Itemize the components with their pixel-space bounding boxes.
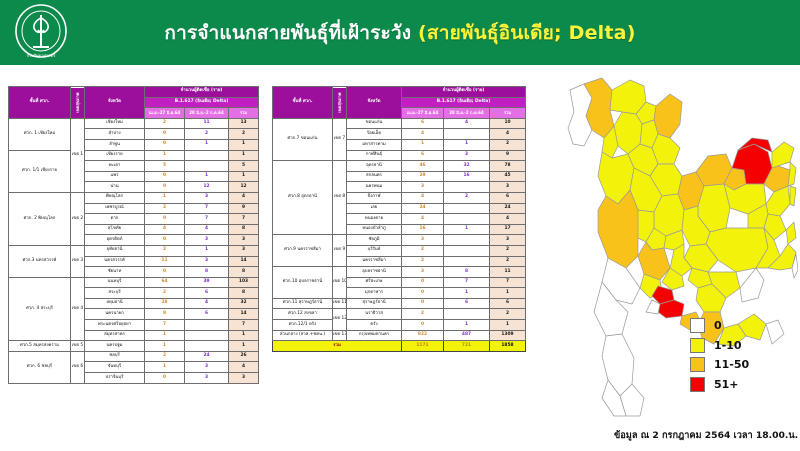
legend-item-2: 11-50 — [690, 357, 749, 372]
cell-period2: 3 — [185, 235, 229, 246]
map-legend: 01-1011-5051+ — [690, 318, 749, 396]
cell-total: 2 — [490, 245, 526, 256]
cell-total: 3 — [490, 182, 526, 193]
cell-scr: ศวก.3 นครสวรรค์ — [9, 245, 71, 277]
cell-period1: 0 — [145, 235, 185, 246]
cell-scr: ศวก. 4 สระบุรี — [9, 277, 71, 341]
cell-zone: เขต 1 — [71, 118, 85, 192]
cell-period1: 0 — [145, 267, 185, 278]
cell-province: บุรีรัมย์ — [347, 245, 402, 256]
cell-province: สุโขทัย — [85, 224, 145, 235]
table-row: ศวก. 1 เชียงใหม่เขต 1เชียงใหม่21113 — [9, 118, 259, 129]
col-header-province: จังหวัด — [347, 87, 402, 119]
table-row: ศวก.7 ขอนแก่นเขต 7ขอนแก่น6410 — [273, 118, 526, 129]
table-head-right: ชั้นที่ ศวก.เขตสุขภาพจังหวัดจำนวนผู้ติดเ… — [273, 87, 526, 119]
cell-province: ปราจีนบุรี — [85, 373, 145, 384]
cell-period2: 12 — [185, 182, 229, 193]
cell-province: ชัยภูมิ — [347, 235, 402, 246]
cell-period1: 1 — [145, 341, 185, 352]
cell-period1: 0 — [402, 288, 444, 299]
legend-label: 1-10 — [714, 339, 742, 352]
table-row: ศวก.10 อุบลราชธานีเขต 10อุบลราชธานี3811 — [273, 267, 526, 278]
grand-total-label: รวม — [273, 341, 402, 352]
col-header-period1: เม.ย.-27 มิ.ย.64 — [145, 108, 185, 119]
col-header-variant: B.1.617 (อินเดีย; Delta) — [145, 97, 259, 108]
cell-period2: 11 — [185, 118, 229, 129]
cell-province: เชียงราย — [85, 150, 145, 161]
cell-period1: 3 — [402, 182, 444, 193]
cell-period2: 6 — [185, 288, 229, 299]
cell-total: 26 — [229, 351, 259, 362]
cell-total: 2 — [490, 256, 526, 267]
cell-period2: 1 — [444, 224, 490, 235]
cell-province: อุทัยธานี — [85, 245, 145, 256]
cell-province: หนองบัวลำภู — [347, 224, 402, 235]
cell-period2: 8 — [185, 267, 229, 278]
cell-period2: 3 — [185, 256, 229, 267]
cell-province: มหาสารคาม — [347, 139, 402, 150]
cell-zone: เขต 2 — [71, 192, 85, 245]
cell-total: 2 — [490, 309, 526, 320]
cell-period2 — [185, 150, 229, 161]
cell-period2: 32 — [444, 161, 490, 172]
table-row: ส่วนกลาง (สวส.+ชคน.)เขต 13กรุงเทพมหานคร8… — [273, 330, 526, 341]
cell-period2: 1 — [444, 320, 490, 331]
cell-period1: 3 — [402, 235, 444, 246]
cell-zone: เขต 3 — [71, 245, 85, 277]
cell-province: นครปฐม — [85, 341, 145, 352]
cell-total: 9 — [229, 203, 259, 214]
cell-province: บึงกาฬ — [347, 192, 402, 203]
cell-scr: ศวก.11 สุราษฎร์ธานี — [273, 298, 333, 309]
cell-total: 45 — [490, 171, 526, 182]
cell-province: ศรีสะเกษ — [347, 277, 402, 288]
table-body-left: ศวก. 1 เชียงใหม่เขต 1เชียงใหม่21113ลำปาง… — [9, 118, 259, 383]
cell-period2: 2 — [444, 192, 490, 203]
cell-total: 8 — [229, 288, 259, 299]
cell-total: 4 — [490, 214, 526, 225]
cell-province: กาฬสินธุ์ — [347, 150, 402, 161]
cell-period2: 24 — [185, 351, 229, 362]
cell-period2 — [444, 214, 490, 225]
legend-item-0: 0 — [690, 318, 749, 333]
cell-period1: 29 — [402, 171, 444, 182]
region-yasothon — [786, 222, 796, 244]
cell-province: น่าน — [85, 182, 145, 193]
cell-period1: 0 — [402, 277, 444, 288]
cell-province: นครพนม — [347, 182, 402, 193]
cell-period2 — [444, 203, 490, 214]
cell-province: จันทบุรี — [85, 362, 145, 373]
cell-period2: 7 — [185, 203, 229, 214]
cell-period2: 7 — [185, 214, 229, 225]
slide-header: กรมวิทยาศาสตร์ การจำแนกสายพันธุ์ที่เฝ้าร… — [0, 0, 800, 65]
cell-period1: 2 — [145, 203, 185, 214]
cell-period1: 3 — [402, 267, 444, 278]
cell-period1: 822 — [402, 330, 444, 341]
cell-period2: 1 — [444, 288, 490, 299]
cell-zone: เขต 13 — [333, 330, 347, 341]
cell-total: 9 — [490, 150, 526, 161]
cell-period1: 0 — [145, 182, 185, 193]
col-header-variant: B.1.617 (อินเดีย; Delta) — [402, 97, 526, 108]
cell-province: ชลบุรี — [85, 351, 145, 362]
cell-period2 — [444, 182, 490, 193]
cell-period2 — [185, 161, 229, 172]
cell-province: อุบลราชธานี — [347, 267, 402, 278]
cell-province: เชียงใหม่ — [85, 118, 145, 129]
cell-period1: 0 — [402, 298, 444, 309]
grand-total-period2: 721 — [444, 341, 490, 352]
cell-province: อุตรดิตถ์ — [85, 235, 145, 246]
col-header-zone: เขตสุขภาพ — [333, 87, 347, 119]
cell-period2 — [185, 330, 229, 341]
cell-province: เลย — [347, 203, 402, 214]
region-mukdahan — [790, 186, 796, 206]
cell-province: ปทุมธานี — [85, 298, 145, 309]
cell-period1: 24 — [402, 203, 444, 214]
cell-scr: ศวก.10 อุบลราชธานี — [273, 267, 333, 299]
col-header-period2: 28 มิ.ย.-2 ก.ค.64 — [185, 108, 229, 119]
col-header-scr: ชั้นที่ ศวก. — [9, 87, 71, 119]
cell-period1: 5 — [145, 161, 185, 172]
cell-province: ชัยนาท — [85, 267, 145, 278]
cell-province: พระนครศรีอยุธยา — [85, 320, 145, 331]
cell-period2: 3 — [185, 362, 229, 373]
cell-scr: ศวก. 2 พิษณุโลก — [9, 192, 71, 245]
cell-total: 11 — [490, 267, 526, 278]
cell-scr: ศวก.9 นครราชสีมา — [273, 235, 333, 267]
cell-zone: เขต 9 — [333, 235, 347, 267]
cell-period1: 0 — [145, 139, 185, 150]
cell-total: 2 — [229, 129, 259, 140]
cell-period1: 4 — [402, 192, 444, 203]
table-row: ศวก. 6 ชลบุรีเขต 6ชลบุรี22426 — [9, 351, 259, 362]
cell-total: 1 — [229, 139, 259, 150]
cell-period1: 2 — [145, 351, 185, 362]
cell-period1: 11 — [145, 256, 185, 267]
cell-total: 7 — [229, 214, 259, 225]
cell-period2 — [444, 129, 490, 140]
col-header-total: รวม — [229, 108, 259, 119]
variant-table-left: ชั้นที่ ศวก.เขตสุขภาพจังหวัดจำนวนผู้ติดเ… — [8, 86, 259, 384]
cell-period1: 0 — [145, 129, 185, 140]
region-kalasin — [766, 186, 790, 216]
cell-period2: 4 — [444, 118, 490, 129]
cell-period1: 2 — [402, 245, 444, 256]
col-header-count-group: จำนวนผู้ติดเชื้อ (ราย) — [145, 87, 259, 98]
cell-total: 103 — [229, 277, 259, 288]
cell-total: 13 — [229, 118, 259, 129]
table-row: ศวก. 4 สระบุรีเขต 4นนทบุรี6439103 — [9, 277, 259, 288]
table-row: ศวก.5 สมุทรสงครามเขต 5นครปฐม11 — [9, 341, 259, 352]
table-row: ศวก. 2 พิษณุโลกเขต 2พิษณุโลก134 — [9, 192, 259, 203]
cell-total: 8 — [229, 267, 259, 278]
cell-period2: 3 — [185, 192, 229, 203]
cell-province: สกลนคร — [347, 171, 402, 182]
cell-total: 78 — [490, 161, 526, 172]
cell-total: 14 — [229, 256, 259, 267]
col-header-period2: 28 มิ.ย.-2 ก.ค.64 — [444, 108, 490, 119]
cell-period1: 8 — [145, 309, 185, 320]
cell-zone: เขต 8 — [333, 161, 347, 235]
cell-period2: 7 — [444, 277, 490, 288]
cell-province: นครนายก — [85, 309, 145, 320]
legend-swatch — [690, 338, 705, 353]
cell-scr: ศวก. 1/1 เชียงราย — [9, 150, 71, 192]
cell-province: เพชรบูรณ์ — [85, 203, 145, 214]
variant-table-right: ชั้นที่ ศวก.เขตสุขภาพจังหวัดจำนวนผู้ติดเ… — [272, 86, 526, 352]
cell-total: 10 — [490, 118, 526, 129]
grand-total-row: รวม11717211858 — [273, 341, 526, 352]
cell-total: 4 — [229, 362, 259, 373]
cell-scr: ส่วนกลาง (สวส.+ชคน.) — [273, 330, 333, 341]
cell-total: 14 — [229, 309, 259, 320]
cell-period1: 1 — [145, 362, 185, 373]
cell-zone: เขต 6 — [71, 351, 85, 383]
cell-province: ขอนแก่น — [347, 118, 402, 129]
page-title-main: การจำแนกสายพันธุ์ที่เฝ้าระวัง — [164, 22, 418, 44]
region-nan — [654, 94, 682, 138]
cell-zone: เขต 12 — [333, 309, 347, 330]
cell-period1: 1 — [145, 192, 185, 203]
cell-period1: 2 — [145, 288, 185, 299]
cell-province: สระบุรี — [85, 288, 145, 299]
legend-item-1: 1-10 — [690, 338, 749, 353]
cell-zone: เขต 5 — [71, 341, 85, 352]
cell-province: พะเยา — [85, 161, 145, 172]
cell-total: 1 — [490, 320, 526, 331]
cell-period2 — [444, 235, 490, 246]
table-row: ศวก.12 สงขลาเขต 12นราธิวาส22 — [273, 309, 526, 320]
cell-period2: 487 — [444, 330, 490, 341]
cell-period1: 1 — [402, 139, 444, 150]
cell-total: 1 — [229, 171, 259, 182]
cell-province: สุราษฎร์ธานี — [347, 298, 402, 309]
legend-label: 51+ — [714, 378, 739, 391]
cell-period1: 4 — [145, 224, 185, 235]
cell-period2: 4 — [185, 224, 229, 235]
cell-total: 4 — [229, 192, 259, 203]
cell-period1: 6 — [402, 150, 444, 161]
cell-period2 — [444, 245, 490, 256]
cell-total: 1 — [229, 150, 259, 161]
cell-period2: 1 — [185, 139, 229, 150]
thailand-choropleth-map — [540, 72, 798, 417]
cell-period2: 6 — [444, 298, 490, 309]
cell-period2 — [185, 320, 229, 331]
legend-label: 0 — [714, 319, 722, 332]
cell-province: พิษณุโลก — [85, 192, 145, 203]
grand-total-period1: 1171 — [402, 341, 444, 352]
cell-period2: 1 — [185, 171, 229, 182]
cell-total: 1309 — [490, 330, 526, 341]
cell-total: 17 — [490, 224, 526, 235]
cell-scr: ศวก. 6 ชลบุรี — [9, 351, 71, 383]
cell-period1: 1 — [145, 330, 185, 341]
cell-total: 12 — [229, 182, 259, 193]
cell-province: แพร่ — [85, 171, 145, 182]
cell-period1: 2 — [145, 118, 185, 129]
cell-period2 — [444, 256, 490, 267]
cell-total: 6 — [490, 192, 526, 203]
cell-period2: 1 — [185, 245, 229, 256]
cell-zone: เขต 11 — [333, 298, 347, 309]
cell-total: 24 — [490, 203, 526, 214]
col-header-province: จังหวัด — [85, 87, 145, 119]
cell-province: ลำปาง — [85, 129, 145, 140]
cell-period2: 4 — [185, 298, 229, 309]
cell-period2: 8 — [444, 267, 490, 278]
cell-period1: 0 — [145, 373, 185, 384]
cell-period2: 3 — [444, 150, 490, 161]
col-header-scr: ชั้นที่ ศวก. — [273, 87, 333, 119]
cell-period2: 6 — [185, 309, 229, 320]
cell-period2 — [444, 309, 490, 320]
cell-province: กรุงเทพมหานคร — [347, 330, 402, 341]
cell-total: 7 — [490, 277, 526, 288]
cell-province: ตรัง — [347, 320, 402, 331]
cell-period2: 2 — [185, 129, 229, 140]
cell-period2: 39 — [185, 277, 229, 288]
cell-total: 4 — [490, 129, 526, 140]
cell-province: นนทบุรี — [85, 277, 145, 288]
cell-period1: 4 — [402, 214, 444, 225]
cell-total: 1 — [490, 288, 526, 299]
cell-period1: 0 — [145, 214, 185, 225]
cell-period2 — [185, 341, 229, 352]
cell-scr: ศวก.12 สงขลา — [273, 309, 333, 320]
cell-scr: ศวก.8 อุดรธานี — [273, 161, 333, 235]
cell-total: 3 — [229, 373, 259, 384]
cell-period1: 2 — [402, 309, 444, 320]
cell-province: นครราชสีมา — [347, 256, 402, 267]
cell-zone: เขต 7 — [333, 118, 347, 160]
table-body-right: ศวก.7 ขอนแก่นเขต 7ขอนแก่น6410ร้อยเอ็ด44ม… — [273, 118, 526, 351]
cell-period1: 0 — [402, 320, 444, 331]
cell-scr: ศวก.5 สมุทรสงคราม — [9, 341, 71, 352]
cell-zone: เขต 10 — [333, 267, 347, 299]
cell-total: 3 — [490, 235, 526, 246]
cell-scr: ศวก.7 ขอนแก่น — [273, 118, 333, 160]
table-row: ศวก.11 สุราษฎร์ธานีเขต 11สุราษฎร์ธานี066 — [273, 298, 526, 309]
cell-period1: 0 — [145, 171, 185, 182]
cell-total: 3 — [229, 235, 259, 246]
cell-province: อุดรธานี — [347, 161, 402, 172]
cell-total: 5 — [229, 161, 259, 172]
legend-swatch — [690, 377, 705, 392]
cell-total: 32 — [229, 298, 259, 309]
cell-period2: 1 — [444, 139, 490, 150]
cell-period2: 16 — [444, 171, 490, 182]
col-header-count-group: จำนวนผู้ติดเชื้อ (ราย) — [402, 87, 526, 98]
cell-total: 2 — [490, 139, 526, 150]
cell-province: สมุทรสาคร — [85, 330, 145, 341]
cell-period1: 6 — [402, 118, 444, 129]
col-header-total: รวม — [490, 108, 526, 119]
cell-province: ลำพูน — [85, 139, 145, 150]
grand-total-sum: 1858 — [490, 341, 526, 352]
cell-period1: 16 — [402, 224, 444, 235]
legend-swatch — [690, 318, 705, 333]
page-title-highlight: (สายพันธุ์อินเดีย; Delta) — [418, 22, 636, 44]
legend-item-3: 51+ — [690, 377, 749, 392]
cell-total: 6 — [490, 298, 526, 309]
cell-province: นครสวรรค์ — [85, 256, 145, 267]
table-row: ศวก.12/1 ตรังตรัง011 — [273, 320, 526, 331]
col-header-period1: เม.ย.-27 มิ.ย.64 — [402, 108, 444, 119]
cell-total: 1 — [229, 341, 259, 352]
legend-label: 11-50 — [714, 358, 749, 371]
data-timestamp: ข้อมูล ณ 2 กรกฎาคม 2564 เวลา 18.00.น. — [614, 428, 798, 443]
cell-province: ตาก — [85, 214, 145, 225]
cell-period1: 64 — [145, 277, 185, 288]
cell-province: หนองคาย — [347, 214, 402, 225]
cell-period1: 2 — [402, 256, 444, 267]
cell-period1: 4 — [402, 129, 444, 140]
col-header-zone: เขตสุขภาพ — [71, 87, 85, 119]
page-title: การจำแนกสายพันธุ์ที่เฝ้าระวัง (สายพันธุ์… — [164, 18, 635, 48]
cell-province: ร้อยเอ็ด — [347, 129, 402, 140]
cell-province: มุกดาหาร — [347, 288, 402, 299]
cell-period1: 2 — [145, 245, 185, 256]
cell-scr: ศวก. 1 เชียงใหม่ — [9, 118, 71, 150]
table-row: ศวก.8 อุดรธานีเขต 8อุดรธานี463278 — [273, 161, 526, 172]
cell-zone: เขต 4 — [71, 277, 85, 341]
region-nakhon-phanom — [788, 162, 796, 186]
table-head-left: ชั้นที่ ศวก.เขตสุขภาพจังหวัดจำนวนผู้ติดเ… — [9, 87, 259, 119]
cell-scr: ศวก.12/1 ตรัง — [273, 320, 333, 331]
cell-province: นราธิวาส — [347, 309, 402, 320]
table-row: ศวก. 1/1 เชียงรายเชียงราย11 — [9, 150, 259, 161]
cell-total: 1 — [229, 330, 259, 341]
table-row: ศวก.9 นครราชสีมาเขต 9ชัยภูมิ33 — [273, 235, 526, 246]
cell-period1: 7 — [145, 320, 185, 331]
cell-period1: 46 — [402, 161, 444, 172]
cell-total: 7 — [229, 320, 259, 331]
cell-period2: 3 — [185, 373, 229, 384]
region-sa-kaeo — [740, 268, 764, 302]
cell-period1: 28 — [145, 298, 185, 309]
legend-swatch — [690, 357, 705, 372]
cell-total: 8 — [229, 224, 259, 235]
cell-period1: 1 — [145, 150, 185, 161]
cell-total: 3 — [229, 245, 259, 256]
table-row: ศวก.3 นครสวรรค์เขต 3อุทัยธานี213 — [9, 245, 259, 256]
region-trat — [766, 320, 784, 344]
